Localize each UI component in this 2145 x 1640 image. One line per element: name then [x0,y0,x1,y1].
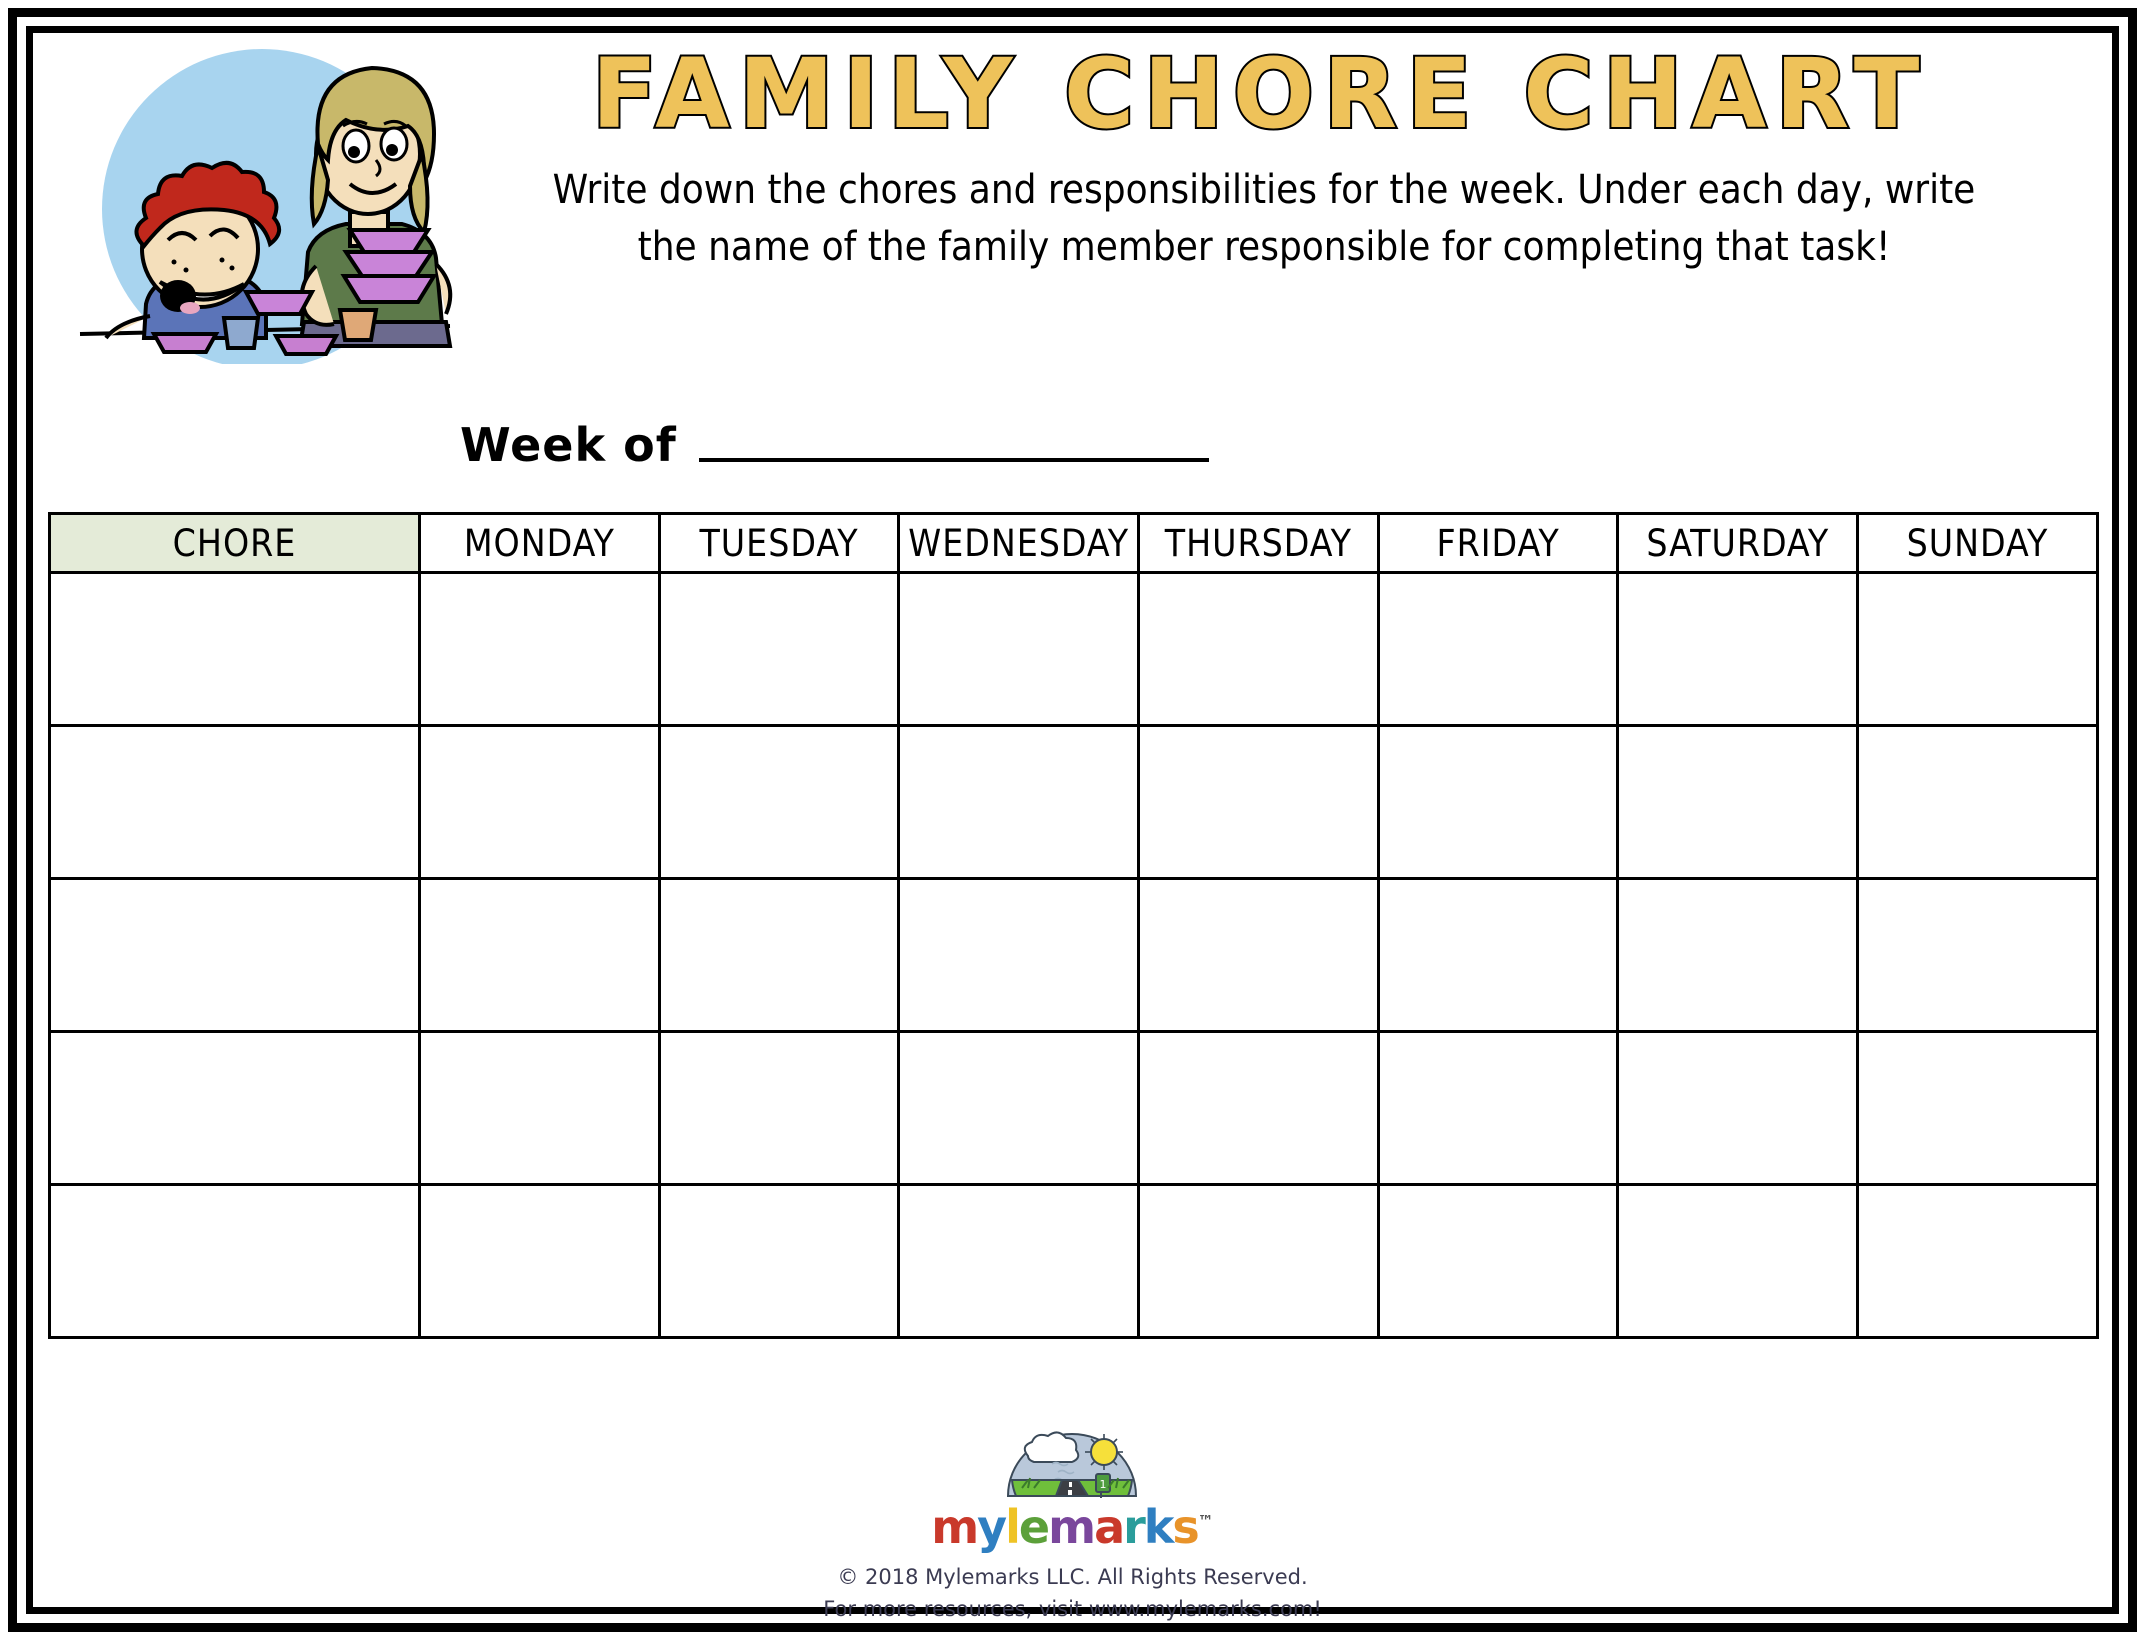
column-header-monday: MONDAY [420,514,660,573]
cell-chore[interactable] [50,1032,420,1185]
logo-letter: s [1172,1500,1197,1554]
page-title-text: FAMILY CHORE CHART [592,46,1929,142]
cell-sunday[interactable] [1858,726,2098,879]
logo-letter: l [1005,1500,1019,1554]
instructions-line-2: the name of the family member responsibl… [444,219,2084,276]
page-title: FAMILY CHORE CHART [440,46,2080,142]
cell-saturday[interactable] [1618,1032,1858,1185]
cell-wednesday[interactable] [899,726,1139,879]
logo-letter: a [1094,1500,1123,1554]
column-header-wednesday: WEDNESDAY [899,514,1139,573]
cell-sunday[interactable] [1858,573,2098,726]
footer: 1 mylemarks™ © 2018 Mylemarks LLC. All R… [0,1430,2145,1625]
column-header-friday: FRIDAY [1378,514,1618,573]
cell-saturday[interactable] [1618,1185,1858,1338]
cell-friday[interactable] [1378,726,1618,879]
logo-letter: r [1123,1500,1144,1554]
cell-monday[interactable] [420,879,660,1032]
copyright-line-2: For more resources, visit www.mylemarks.… [0,1594,2145,1626]
cell-chore[interactable] [50,726,420,879]
logo-letter: m [931,1500,977,1554]
table-row [50,726,2098,879]
logo-letter: k [1144,1500,1173,1554]
cell-chore[interactable] [50,1185,420,1338]
cell-saturday[interactable] [1618,879,1858,1032]
cell-tuesday[interactable] [659,726,899,879]
cell-wednesday[interactable] [899,879,1139,1032]
family-illustration [50,34,470,364]
cell-wednesday[interactable] [899,1032,1139,1185]
cell-tuesday[interactable] [659,573,899,726]
header: FAMILY CHORE CHART Write down the chores… [40,34,2105,504]
logo-letter: m [1048,1500,1094,1554]
cell-monday[interactable] [420,573,660,726]
cell-friday[interactable] [1378,1032,1618,1185]
cell-thursday[interactable] [1139,1185,1379,1338]
cell-tuesday[interactable] [659,879,899,1032]
svg-text:1: 1 [1100,1478,1107,1491]
cell-friday[interactable] [1378,879,1618,1032]
parent-figure [300,68,450,346]
chore-chart-table: CHORE MONDAY TUESDAY WEDNESDAY THURSDAY … [48,512,2099,1339]
logo-letter: y [977,1500,1005,1554]
cell-chore[interactable] [50,879,420,1032]
cell-friday[interactable] [1378,1185,1618,1338]
cell-friday[interactable] [1378,573,1618,726]
cell-saturday[interactable] [1618,726,1858,879]
mylemarks-wordmark: mylemarks™ [931,1504,1214,1550]
cell-monday[interactable] [420,1185,660,1338]
logo-landscape-icon: 1 [1004,1430,1140,1502]
table-row [50,573,2098,726]
copyright-notice: © 2018 Mylemarks LLC. All Rights Reserve… [0,1562,2145,1625]
column-header-saturday: SATURDAY [1618,514,1858,573]
mylemarks-logo: 1 mylemarks™ [931,1430,1214,1550]
cell-thursday[interactable] [1139,573,1379,726]
cell-monday[interactable] [420,1032,660,1185]
copyright-line-1: © 2018 Mylemarks LLC. All Rights Reserve… [0,1562,2145,1594]
week-of-label: Week of [460,422,677,468]
week-of-field[interactable]: Week of [460,422,1209,468]
cell-wednesday[interactable] [899,573,1139,726]
logo-letter: e [1019,1500,1048,1554]
cell-monday[interactable] [420,726,660,879]
column-header-sunday: SUNDAY [1858,514,2098,573]
column-header-chore: CHORE [50,514,420,573]
trademark-symbol: ™ [1198,1512,1214,1531]
cell-thursday[interactable] [1139,879,1379,1032]
table-header-row: CHORE MONDAY TUESDAY WEDNESDAY THURSDAY … [50,514,2098,573]
week-of-blank-line[interactable] [699,424,1209,462]
table-row [50,1185,2098,1338]
table-row [50,1032,2098,1185]
cell-chore[interactable] [50,573,420,726]
cell-thursday[interactable] [1139,726,1379,879]
cell-tuesday[interactable] [659,1185,899,1338]
stacked-bowls [344,230,434,302]
chore-chart-page: FAMILY CHORE CHART Write down the chores… [0,0,2145,1640]
instructions-line-1: Write down the chores and responsibiliti… [444,162,2084,219]
cell-sunday[interactable] [1858,1032,2098,1185]
cell-saturday[interactable] [1618,573,1858,726]
cell-wednesday[interactable] [899,1185,1139,1338]
cell-sunday[interactable] [1858,879,2098,1032]
column-header-tuesday: TUESDAY [659,514,899,573]
cell-tuesday[interactable] [659,1032,899,1185]
cell-sunday[interactable] [1858,1185,2098,1338]
table-row [50,879,2098,1032]
instructions: Write down the chores and responsibiliti… [444,162,2084,276]
column-header-thursday: THURSDAY [1139,514,1379,573]
cell-thursday[interactable] [1139,1032,1379,1185]
